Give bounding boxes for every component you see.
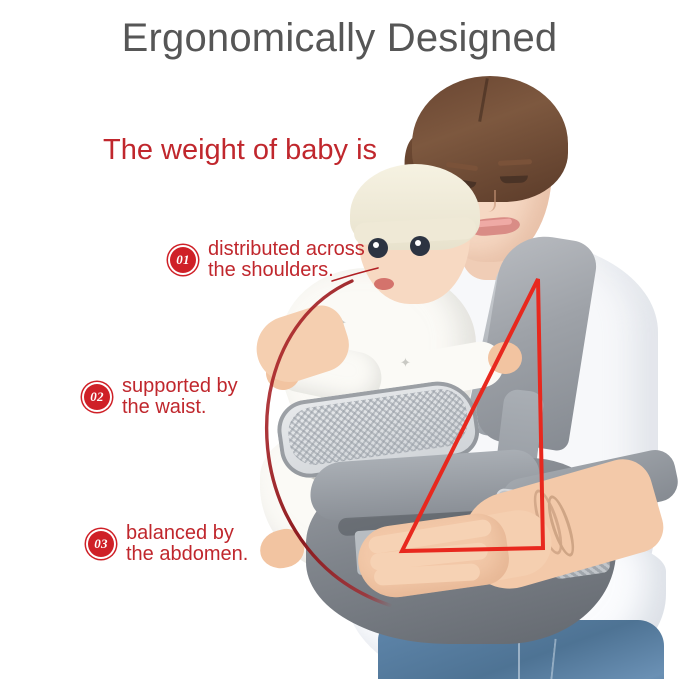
baby-outfit-star: ✦ xyxy=(400,356,411,369)
callout-text-03: balanced by the abdomen. xyxy=(126,523,248,565)
baby-eye-right xyxy=(410,236,430,256)
callout-text-01: distributed across the shoulders. xyxy=(208,239,365,281)
badge-number-02: 02 xyxy=(82,382,112,412)
page-subtitle: The weight of baby is xyxy=(103,134,377,167)
baby-hand-right xyxy=(488,342,522,374)
callout-03: 03 balanced by the abdomen. xyxy=(86,523,248,565)
jeans-pocket xyxy=(546,639,622,679)
callout-02: 02 supported by the waist. xyxy=(82,376,238,418)
page-title: Ergonomically Designed xyxy=(0,16,679,61)
baby-mouth xyxy=(374,278,394,290)
mother-nose xyxy=(482,190,496,212)
infographic-canvas: ✦ ✦ ✦ ✦ xyxy=(0,0,679,679)
baby-eye-left xyxy=(368,238,388,258)
badge-number-01: 01 xyxy=(168,245,198,275)
callout-01: 01 distributed across the shoulders. xyxy=(168,239,365,281)
baby-eye-highlight-left xyxy=(373,242,379,248)
callout-text-02: supported by the waist. xyxy=(122,376,238,418)
baby-eye-highlight-right xyxy=(415,240,421,246)
badge-number-03: 03 xyxy=(86,529,116,559)
